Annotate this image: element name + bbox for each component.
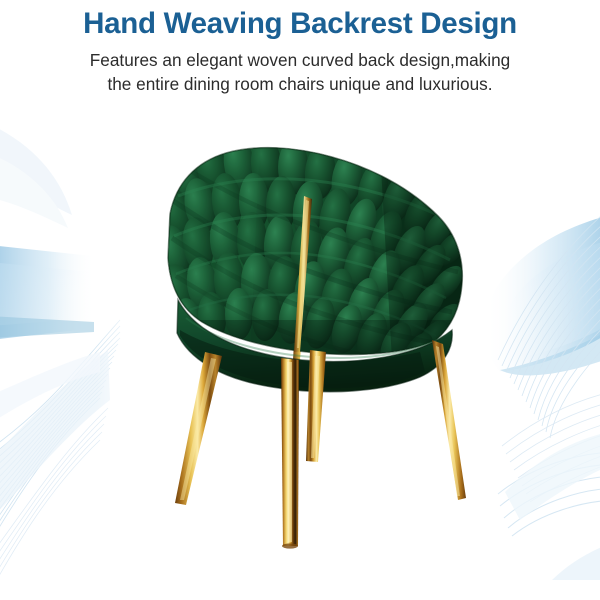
chair-leg-front-left <box>175 352 222 505</box>
subtitle-line-1: Features an elegant woven curved back de… <box>30 49 570 73</box>
product-feature-card: Hand Weaving Backrest Design Features an… <box>0 0 600 600</box>
page-title: Hand Weaving Backrest Design <box>0 0 600 42</box>
chair-leg-rear-right <box>432 340 466 500</box>
subtitle-line-2: the entire dining room chairs unique and… <box>30 73 570 97</box>
chair-leg-front-center <box>281 358 299 549</box>
page-subtitle: Features an elegant woven curved back de… <box>30 42 570 96</box>
text-block: Hand Weaving Backrest Design Features an… <box>0 0 600 96</box>
